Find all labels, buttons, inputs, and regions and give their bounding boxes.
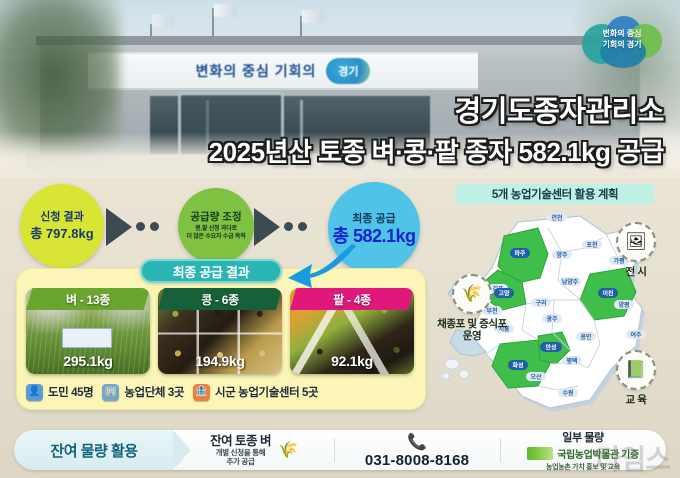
seed-card-label: 콩 - 6종 [158,288,282,310]
phone-icon: 📞 [365,432,469,452]
footer-item-sub: 개별 신청을 통해추가 공급 [210,448,271,466]
footer-phone-number[interactable]: 031-8008-8168 [365,452,469,469]
seed-card-label: 벼 - 13종 [26,288,150,310]
svg-text:안성: 안성 [545,344,556,352]
logo-line-2: 기회의 경기 [602,40,641,49]
person-icon: 👤 [26,384,43,401]
svg-text:고양: 고양 [498,290,510,298]
svg-text:수원: 수원 [562,389,573,397]
wheat-icon: 🌾 [278,440,298,460]
legend-label: 시군 농업기술센터 5곳 [215,384,318,400]
svg-text:파주: 파주 [514,250,526,258]
footer-item-title: 잔여 토종 벼 [210,434,271,448]
arrowhead-right-icon [106,208,132,246]
svg-text:여주: 여주 [630,331,642,339]
seed-card-rice[interactable]: 벼 - 13종 295.1kg [26,288,150,374]
flow-step-value: 총 797.8kg [30,226,93,242]
exhibition-stand-icon: 🖼 [616,222,656,262]
flow-step-note: 콩,팥 신청 과다로더 많은 수요자 수급 목적 [186,226,245,241]
legend-item-farm-groups: 🏢 농업단체 3곳 [102,384,184,401]
footer-bar: 잔여 물량 활용 잔여 토종 벼 개별 신청을 통해추가 공급 🌾 📞 031-… [14,430,666,470]
footer-logo-name: 국립농업박물관 기증 [557,446,639,461]
seed-card-label: 팥 - 4종 [290,288,414,310]
flow-step-application-result: 신청 결과 총 797.8kg [20,184,104,268]
building-roofline [36,36,644,45]
footer-museum-donation: 일부 물량 국립농업박물관 기증 농업농촌 가치 홍보 및 교육 [500,430,666,470]
svg-text:용인: 용인 [580,333,592,341]
flow-step-label: 공급량 조정 [190,211,241,224]
arrowhead-right-icon [254,208,280,246]
flow-step-label: 최종 공급 [352,213,396,226]
infographic-poster: 변화의 중심 기회의 경기 변화의 중심 기회의 경기 경기도종자관리소 202… [0,0,680,478]
page-subtitle: 2025년산 토종 벼·콩·팥 종자 582.1kg 공급 [92,132,664,169]
svg-text:평택: 평택 [566,357,577,365]
flow-dots-icon [284,222,307,231]
education-caption: 교 육 [596,394,676,406]
museum-logo-icon [527,447,553,460]
institute-icon: 🏦 [193,384,210,401]
footer-logo-top: 일부 물량 [562,429,604,445]
legend-item-ag-centers: 🏦 시군 농업기술센터 5곳 [193,384,318,401]
svg-text:이천: 이천 [602,290,614,298]
map-islands [442,359,469,379]
seed-card-redbean[interactable]: 팥 - 4종 92.1kg [290,288,414,374]
exhibition-caption: 전 시 [596,266,676,278]
building-sign-badge: 경기 [326,58,370,84]
svg-text:부천: 부천 [486,307,498,315]
seed-card-amount: 295.1kg [26,353,150,369]
footer-remaining-rice: 잔여 토종 벼 개별 신청을 통해추가 공급 🌾 [174,430,334,470]
footer-contact[interactable]: 📞 031-8008-8168 [334,430,500,470]
footer-tag-label: 잔여 물량 활용 [14,430,174,470]
seed-card-amount: 92.1kg [290,353,414,369]
page-title: 경기도종자관리소 [455,88,664,130]
seed-card-soybean[interactable]: 콩 - 6종 194.9kg [158,288,282,374]
footer-logo-sub: 농업농촌 가치 홍보 및 교육 [546,462,620,472]
legend-label: 농업단체 3곳 [124,384,184,400]
flow-step-supply-adjustment: 공급량 조정 콩,팥 신청 과다로더 많은 수요자 수급 목적 [178,188,254,264]
seed-cards-row: 벼 - 13종 295.1kg 콩 - 6종 194.9kg 팥 - 4종 92… [26,288,418,374]
seed-field-icon: 🌾 [452,274,492,314]
legend-item-residents: 👤 도민 45명 [26,384,93,401]
svg-text:양평: 양평 [618,301,629,309]
svg-text:양주: 양주 [556,251,568,259]
svg-text:광주: 광주 [546,315,558,323]
flow-step-label: 신청 결과 [40,211,84,224]
hero-banner: 변화의 중심 기회의 경기 변화의 중심 기회의 경기 경기도종자관리소 202… [0,0,680,178]
svg-text:남양주: 남양주 [562,278,579,286]
education-book-icon: 📗 [616,350,656,390]
svg-text:가평: 가평 [613,257,624,265]
building-icon: 🏢 [102,384,119,401]
recipients-legend: 👤 도민 45명 🏢 농업단체 3곳 🏦 시군 농업기술센터 5곳 [26,380,418,404]
building-signboard: 변화의 중심 기회의 경기 [88,52,478,90]
seed-field-caption: 채종포 및 증식포운영 [416,318,528,342]
svg-text:구리: 구리 [535,299,546,307]
svg-text:포천: 포천 [586,241,598,249]
flow-dots-icon [136,222,159,231]
building-sign-text: 변화의 중심 기회의 [196,61,317,81]
seed-card-amount: 194.9kg [158,353,282,369]
svg-text:오산: 오산 [530,373,542,381]
result-chip-label: 최종 공급 결과 [140,259,282,283]
blue-curved-arrow-icon [286,240,356,288]
svg-text:화성: 화성 [512,362,523,370]
map-title: 5개 농업기술센터 활용 계획 [456,184,654,204]
svg-text:연천: 연천 [551,214,563,222]
gyeonggi-map-section: 5개 농업기술센터 활용 계획 [430,182,680,422]
logo-line-1: 변화의 중심 [602,29,641,38]
legend-label: 도민 45명 [48,384,93,400]
gyeonggi-brand-logo-icon: 변화의 중심 기회의 경기 [580,14,664,70]
